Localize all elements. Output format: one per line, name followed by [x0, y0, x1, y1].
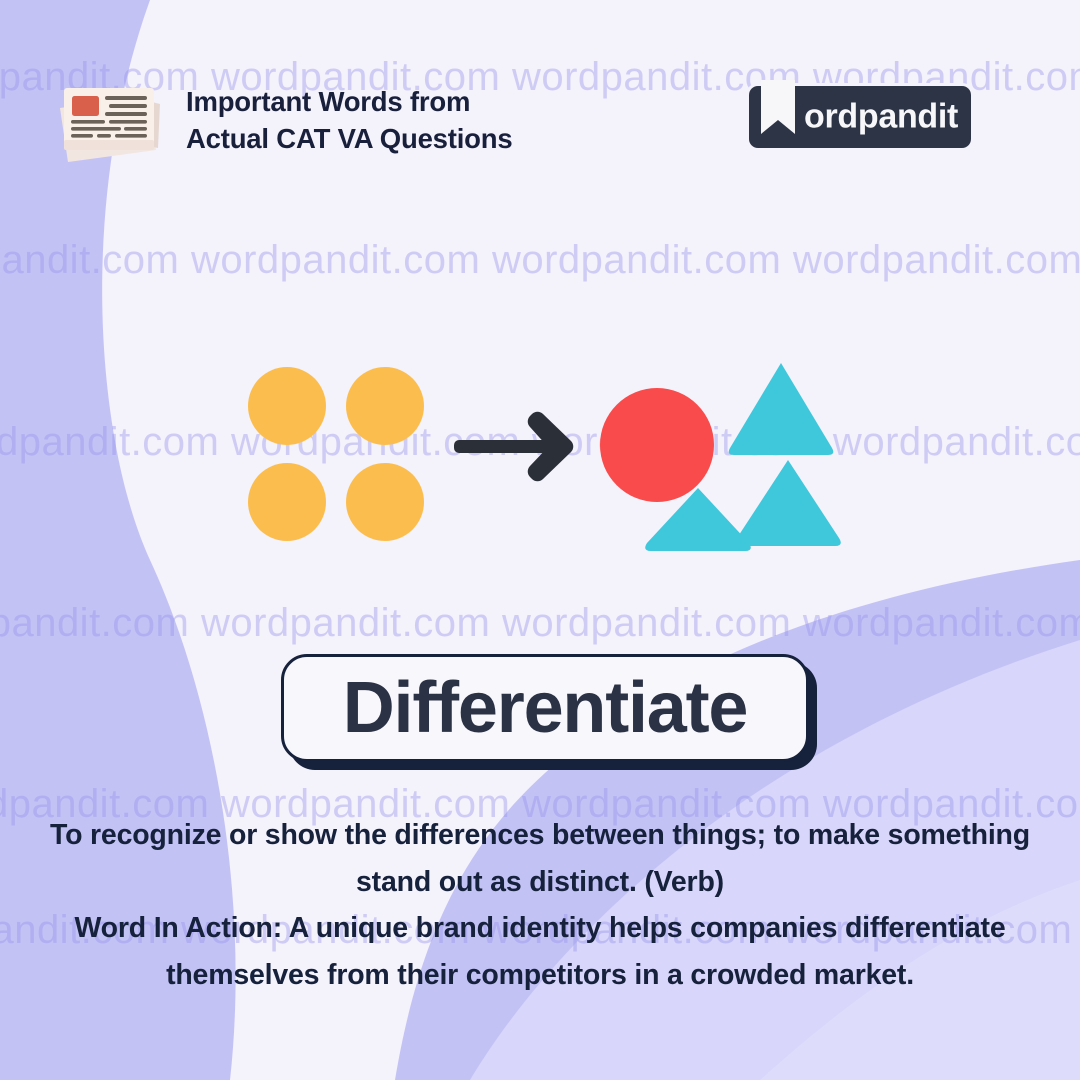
identical-circles-group — [248, 367, 424, 541]
wordpandit-logo[interactable]: ordpandit — [749, 86, 971, 148]
word-card-infographic: wordpandit.com wordpandit.com wordpandit… — [0, 0, 1080, 1080]
word-card-face: Differentiate — [281, 654, 809, 762]
newspaper-icon — [52, 78, 172, 163]
right-arrow-icon — [454, 412, 573, 482]
page-title: Important Words from Actual CAT VA Quest… — [186, 84, 512, 157]
header: Important Words from Actual CAT VA Quest… — [52, 78, 512, 163]
word-card: Differentiate — [281, 654, 809, 762]
distinct-shapes-group — [600, 363, 841, 551]
definition-block: To recognize or show the differences bet… — [50, 812, 1030, 999]
word-meaning: To recognize or show the differences bet… — [50, 812, 1030, 905]
word-in-action: Word In Action: A unique brand identity … — [50, 905, 1030, 998]
bookmark-w-icon — [759, 78, 797, 140]
vocabulary-word: Differentiate — [343, 672, 747, 744]
differentiate-shapes-illustration — [230, 340, 850, 570]
brand-name: ordpandit — [804, 98, 958, 137]
